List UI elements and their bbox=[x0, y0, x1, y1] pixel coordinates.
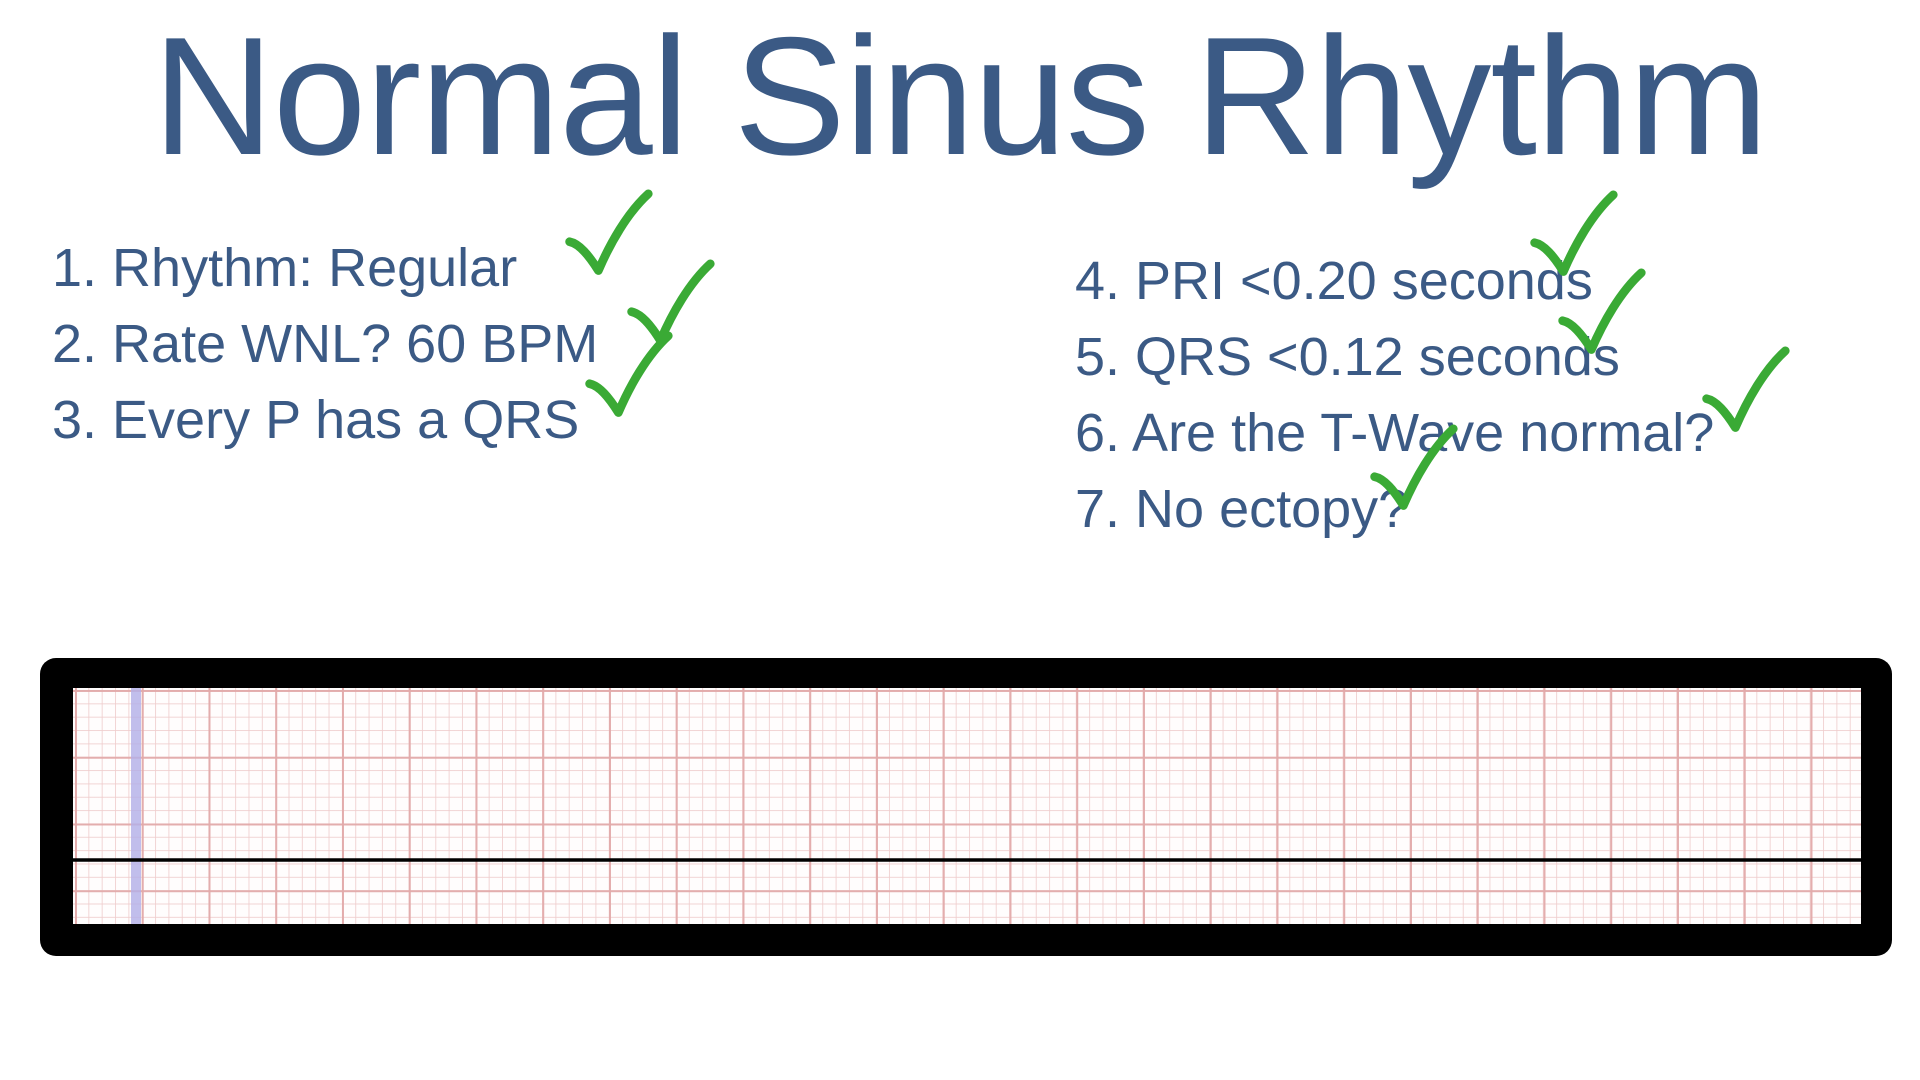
list-item: 5. QRS <0.12 seconds bbox=[1075, 319, 1714, 395]
list-item: 1. Rhythm: Regular bbox=[52, 230, 598, 306]
list-item: 7. No ectopy? bbox=[1075, 471, 1714, 547]
slide-canvas: Normal Sinus Rhythm 1. Rhythm: Regular 2… bbox=[0, 0, 1920, 1080]
list-item: 4. PRI <0.20 seconds bbox=[1075, 243, 1714, 319]
criteria-label-1: 1. Rhythm: Regular bbox=[52, 230, 517, 307]
criteria-list-left: 1. Rhythm: Regular 2. Rate WNL? 60 BPM 3… bbox=[52, 230, 598, 458]
list-item: 6. Are the T-Wave normal? bbox=[1075, 395, 1714, 471]
list-item: 2. Rate WNL? 60 BPM bbox=[52, 306, 598, 382]
criteria-label-4: 4. PRI <0.20 seconds bbox=[1075, 243, 1593, 320]
list-item: 3. Every P has a QRS bbox=[52, 382, 598, 458]
ecg-strip-frame bbox=[40, 658, 1892, 956]
criteria-list-right: 4. PRI <0.20 seconds 5. QRS <0.12 second… bbox=[1075, 243, 1714, 547]
criteria-label-5: 5. QRS <0.12 seconds bbox=[1075, 319, 1620, 396]
page-title: Normal Sinus Rhythm bbox=[0, 8, 1920, 184]
ecg-waveform bbox=[73, 688, 1861, 924]
criteria-label-3: 3. Every P has a QRS bbox=[52, 382, 579, 459]
check-icon bbox=[622, 254, 718, 358]
criteria-label-2: 2. Rate WNL? 60 BPM bbox=[52, 306, 598, 383]
ecg-paper bbox=[73, 688, 1861, 924]
criteria-label-6: 6. Are the T-Wave normal? bbox=[1075, 395, 1714, 472]
criteria-label-7: 7. No ectopy? bbox=[1075, 471, 1408, 548]
check-icon bbox=[560, 184, 656, 288]
